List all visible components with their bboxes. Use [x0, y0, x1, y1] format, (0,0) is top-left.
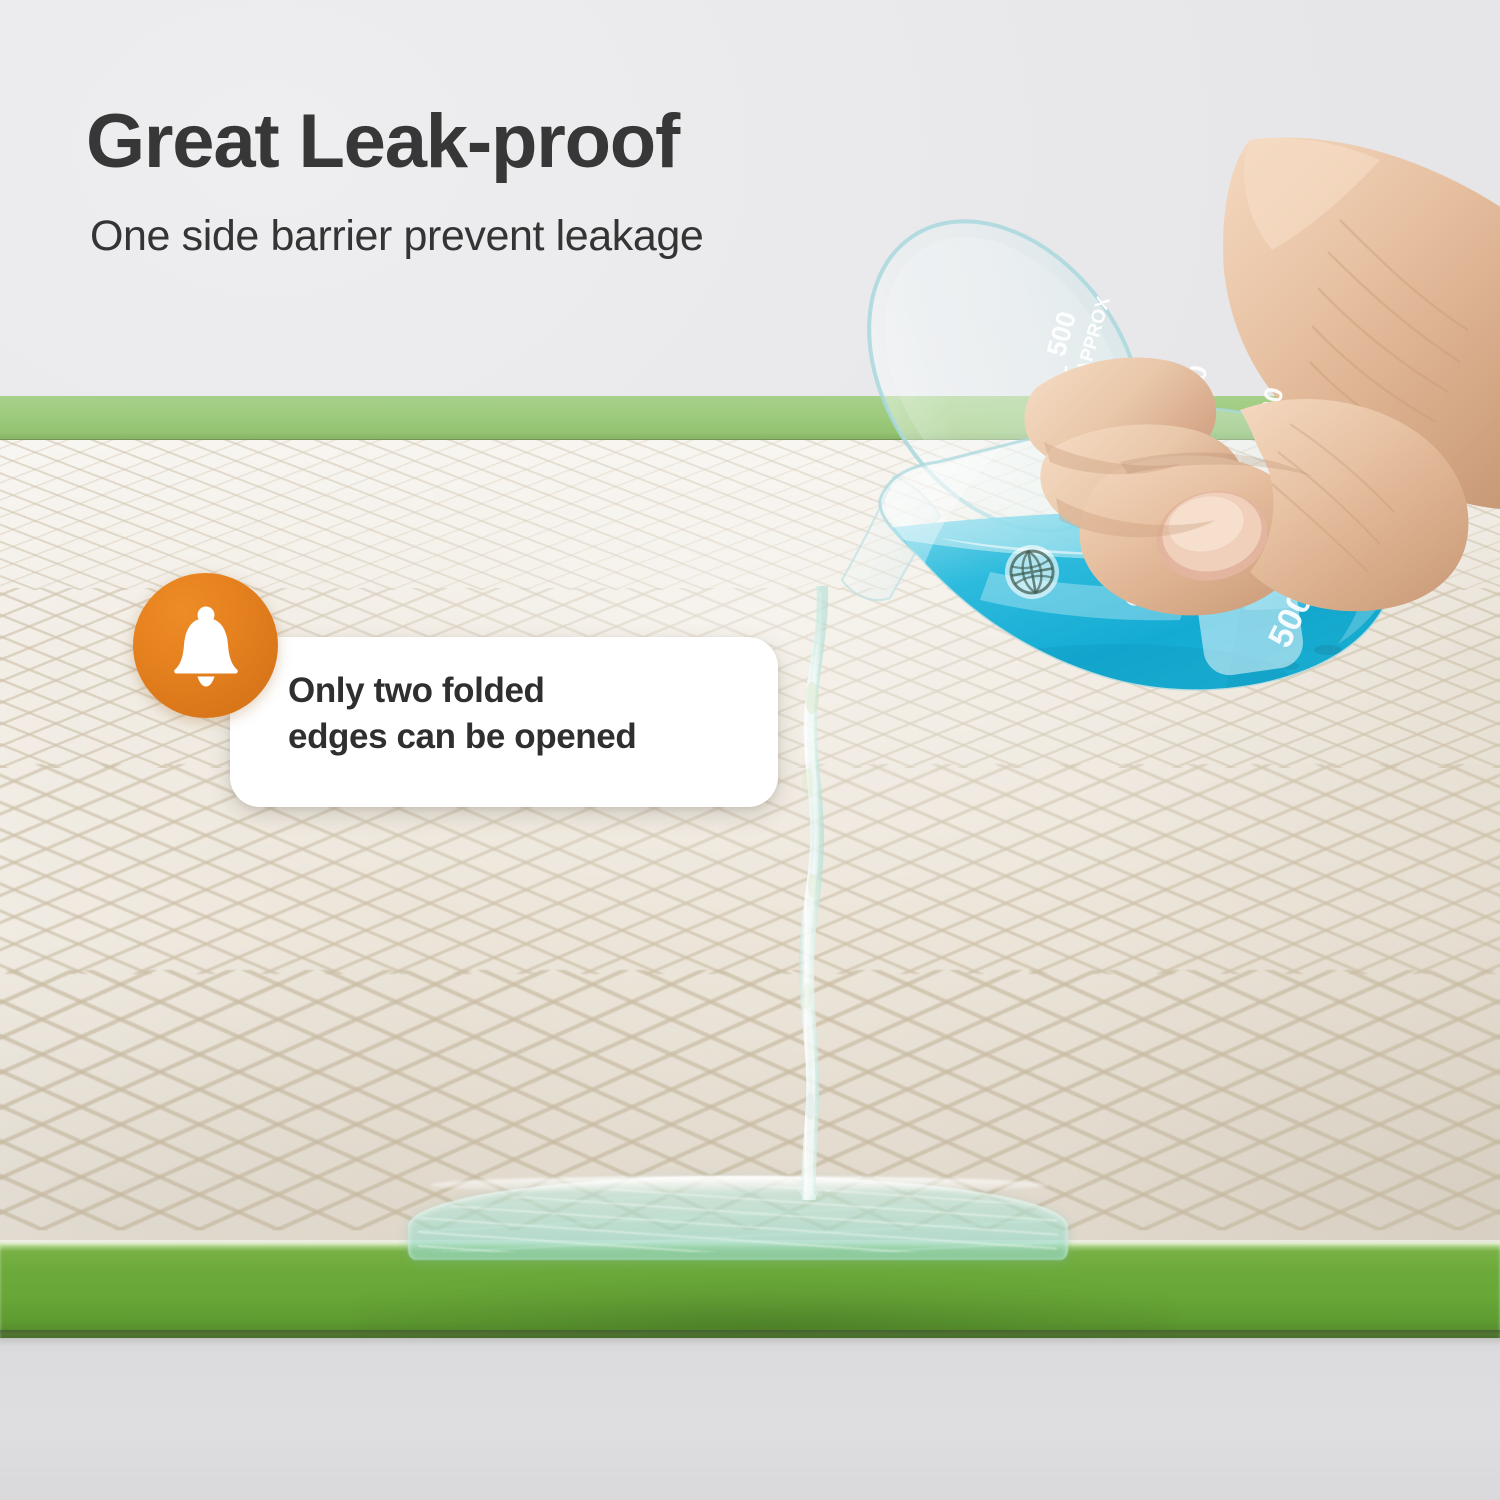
page-title: Great Leak-proof	[86, 104, 679, 180]
product-feature-image: 500 APPROX 300 200 100 GG-17 500ml	[0, 0, 1500, 1500]
floor-surface	[0, 1330, 1500, 1500]
mat-drop-shadow	[0, 1330, 1500, 1346]
barrier-wet-shadow	[360, 1270, 1170, 1332]
pool-surface-ripples	[418, 1186, 1058, 1252]
pool-edge-highlight	[430, 1176, 1048, 1194]
callout-badge	[133, 573, 278, 718]
mat-top-edge-binding	[0, 396, 1500, 442]
mat-quilted-surface	[0, 440, 1500, 1250]
bell-icon	[168, 605, 244, 687]
callout-label: Only two folded edges can be opened	[288, 668, 758, 759]
mat-pattern-band	[0, 440, 1500, 590]
page-subtitle: One side barrier prevent leakage	[90, 213, 703, 260]
feature-callout: Only two folded edges can be opened	[133, 573, 778, 808]
